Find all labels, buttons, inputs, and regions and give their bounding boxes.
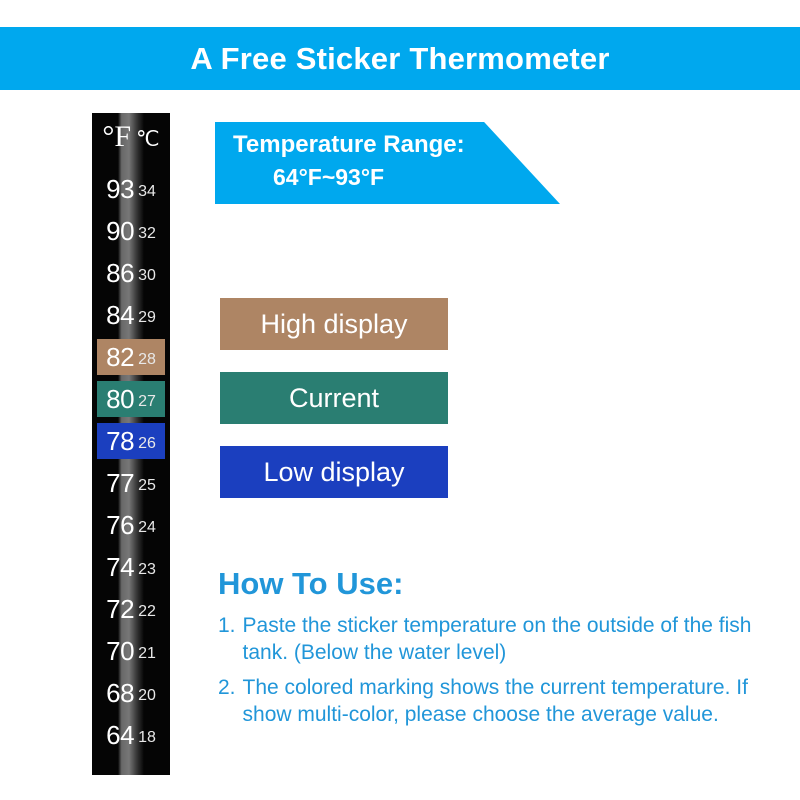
step-number: 1. (218, 613, 236, 667)
fahrenheit-value: 84 (106, 302, 134, 328)
celsius-value: 25 (138, 472, 156, 494)
celsius-value: 34 (138, 178, 156, 200)
temperature-range-value: 64°F~93°F (273, 164, 560, 192)
legend-current-label: Current (289, 385, 379, 412)
celsius-value: 26 (138, 430, 156, 452)
legend-low-label: Low display (263, 459, 404, 486)
celsius-value: 23 (138, 556, 156, 578)
thermometer-row: 8027 (92, 378, 170, 420)
thermometer-row: 7423 (92, 546, 170, 588)
step-number: 2. (218, 675, 236, 729)
thermometer-strip: °F ℃ 93349032863084298228802778267725762… (92, 113, 170, 775)
fahrenheit-value: 80 (106, 386, 134, 412)
fahrenheit-value: 64 (106, 722, 134, 748)
fahrenheit-value: 74 (106, 554, 134, 580)
thermometer-row: 9334 (92, 168, 170, 210)
celsius-value: 24 (138, 514, 156, 536)
celsius-value: 29 (138, 304, 156, 326)
how-to-use-section: How To Use: 1.Paste the sticker temperat… (218, 568, 778, 737)
header-banner: A Free Sticker Thermometer (0, 27, 800, 90)
celsius-unit-label: ℃ (136, 124, 160, 150)
celsius-value: 21 (138, 640, 156, 662)
legend-low-display: Low display (220, 446, 448, 498)
fahrenheit-value: 76 (106, 512, 134, 538)
legend-high-label: High display (260, 311, 407, 338)
fahrenheit-value: 86 (106, 260, 134, 286)
thermometer-row: 7222 (92, 588, 170, 630)
celsius-value: 27 (138, 388, 156, 410)
thermometer-row: 9032 (92, 210, 170, 252)
celsius-value: 22 (138, 598, 156, 620)
how-to-use-title: How To Use: (218, 568, 778, 599)
fahrenheit-value: 68 (106, 680, 134, 706)
how-to-use-step: 2.The colored marking shows the current … (218, 675, 778, 729)
temperature-range-label: Temperature Range: (233, 131, 560, 160)
thermometer-row: 7725 (92, 462, 170, 504)
fahrenheit-value: 90 (106, 218, 134, 244)
temperature-range-banner: Temperature Range: 64°F~93°F (215, 122, 560, 204)
thermometer-row: 7021 (92, 630, 170, 672)
fahrenheit-value: 72 (106, 596, 134, 622)
thermometer-row: 8630 (92, 252, 170, 294)
thermometer-units-row: °F ℃ (92, 113, 170, 161)
page-title: A Free Sticker Thermometer (190, 43, 609, 74)
how-to-use-steps: 1.Paste the sticker temperature on the o… (218, 613, 778, 729)
thermometer-row: 6820 (92, 672, 170, 714)
thermometer-row: 6418 (92, 714, 170, 756)
thermometer-row: 8228 (92, 336, 170, 378)
fahrenheit-value: 82 (106, 344, 134, 370)
thermometer-scale-rows: 9334903286308429822880277826772576247423… (92, 161, 170, 756)
thermometer-row: 8429 (92, 294, 170, 336)
celsius-value: 18 (138, 724, 156, 746)
celsius-value: 28 (138, 346, 156, 368)
fahrenheit-unit-label: °F (102, 122, 131, 152)
celsius-value: 32 (138, 220, 156, 242)
legend-high-display: High display (220, 298, 448, 350)
step-text: The colored marking shows the current te… (243, 675, 778, 729)
thermometer-row: 7826 (92, 420, 170, 462)
fahrenheit-value: 93 (106, 176, 134, 202)
fahrenheit-value: 77 (106, 470, 134, 496)
fahrenheit-value: 78 (106, 428, 134, 454)
celsius-value: 20 (138, 682, 156, 704)
how-to-use-step: 1.Paste the sticker temperature on the o… (218, 613, 778, 667)
celsius-value: 30 (138, 262, 156, 284)
legend-current: Current (220, 372, 448, 424)
fahrenheit-value: 70 (106, 638, 134, 664)
step-text: Paste the sticker temperature on the out… (243, 613, 778, 667)
thermometer-row: 7624 (92, 504, 170, 546)
